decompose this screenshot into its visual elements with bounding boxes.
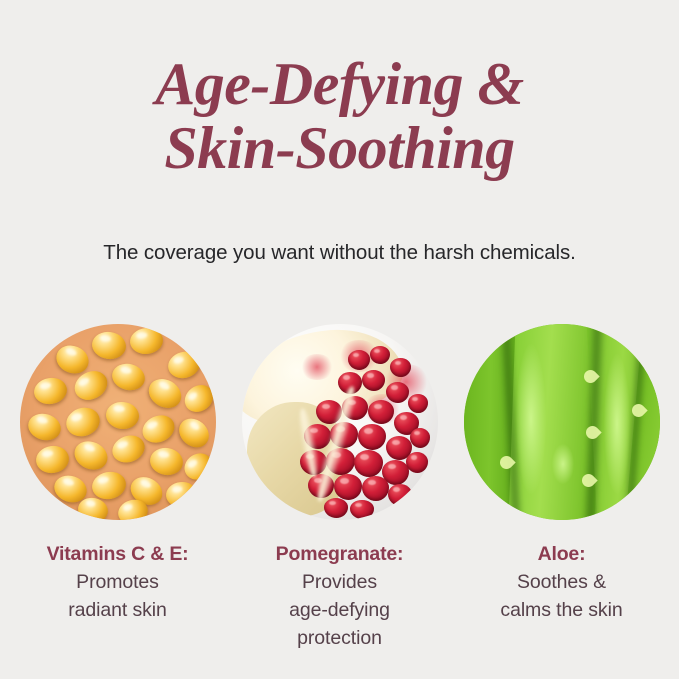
aloe-vera-leaves-photo xyxy=(464,324,660,520)
ingredient-desc-line: Promotes xyxy=(47,568,189,596)
ingredient-desc-line: calms the skin xyxy=(500,596,622,624)
ingredient-card-pomegranate: Pomegranate: Provides age-defying protec… xyxy=(229,324,451,652)
ingredient-desc-line: radiant skin xyxy=(47,596,189,624)
ingredient-columns: Vitamins C & E: Promotes radiant skin xyxy=(0,324,679,652)
pomegranate-fruit-photo xyxy=(242,324,438,520)
ingredient-desc-line: protection xyxy=(276,624,404,652)
ingredient-caption-vitamins: Vitamins C & E: Promotes radiant skin xyxy=(47,540,189,624)
ingredient-desc-line: age-defying xyxy=(276,596,404,624)
ingredient-card-vitamins: Vitamins C & E: Promotes radiant skin xyxy=(7,324,229,624)
page-title-line-1: Age-Defying & xyxy=(155,52,523,116)
ingredient-caption-aloe: Aloe: Soothes & calms the skin xyxy=(500,540,622,624)
ingredient-caption-pomegranate: Pomegranate: Provides age-defying protec… xyxy=(276,540,404,652)
page-title: Age-Defying & Skin-Soothing xyxy=(155,52,523,180)
vitamin-softgel-capsules-photo xyxy=(20,324,216,520)
ingredient-desc-line: Provides xyxy=(276,568,404,596)
ingredient-benefits-infographic: Age-Defying & Skin-Soothing The coverage… xyxy=(0,0,679,679)
page-subtitle: The coverage you want without the harsh … xyxy=(103,240,575,266)
ingredient-card-aloe: Aloe: Soothes & calms the skin xyxy=(451,324,673,624)
page-title-line-2: Skin-Soothing xyxy=(155,116,523,180)
ingredient-desc-line: Soothes & xyxy=(500,568,622,596)
ingredient-title: Aloe: xyxy=(500,540,622,568)
ingredient-title: Vitamins C & E: xyxy=(47,540,189,568)
ingredient-title: Pomegranate: xyxy=(276,540,404,568)
